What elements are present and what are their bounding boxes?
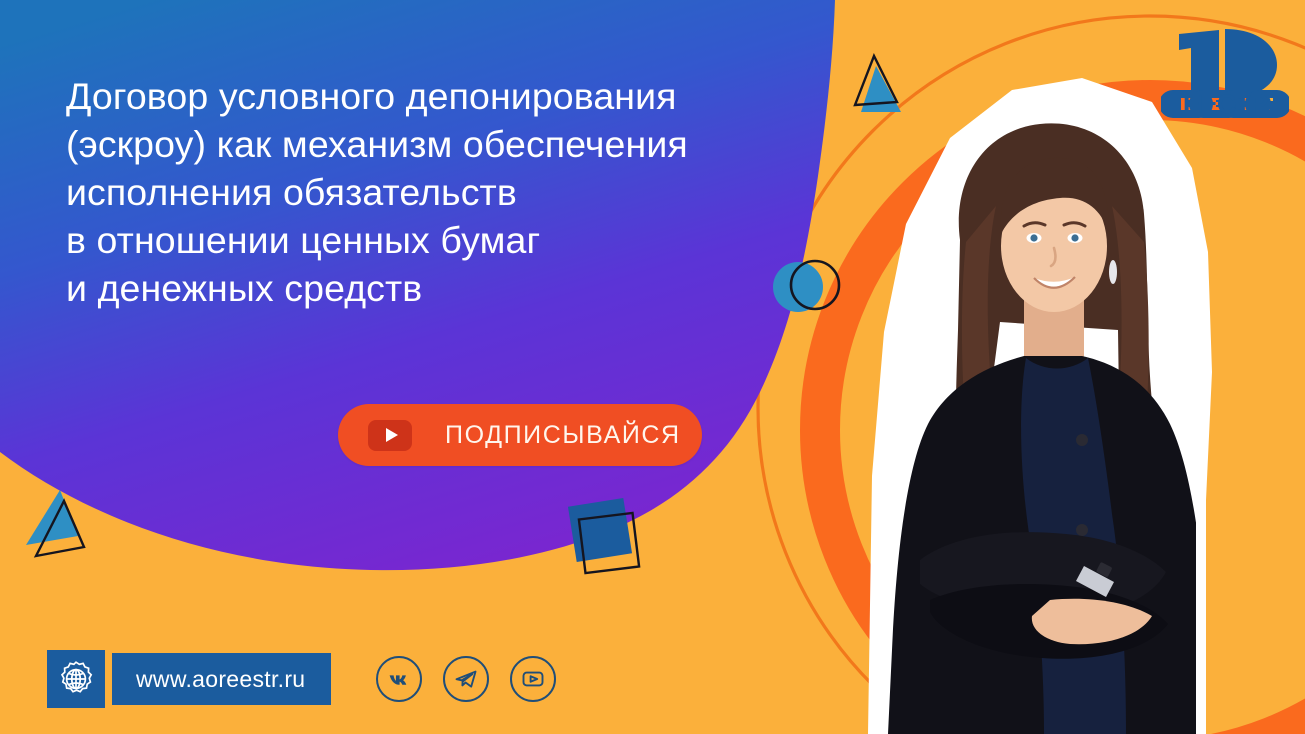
slide-title: Договор условного депонирования (эскроу)…: [66, 72, 846, 312]
triangle-pair-bottom-left: [26, 490, 84, 556]
footer-bar: www.aoreestr.ru: [47, 650, 556, 708]
title-line-5: и денежных средств: [66, 264, 846, 312]
website-url-text: www.aoreestr.ru: [136, 666, 305, 693]
subscribe-button[interactable]: ПОДПИСЫВАЙСЯ: [338, 404, 702, 466]
presentation-slide: Договор условного депонирования (эскроу)…: [0, 0, 1305, 734]
reestr-logo: ЕЕСТР: [1161, 18, 1289, 122]
subscribe-button-label: ПОДПИСЫВАЙСЯ: [445, 421, 681, 450]
website-url-tile[interactable]: www.aoreestr.ru: [112, 653, 331, 705]
triangle-pair-top: [855, 56, 901, 112]
title-line-4: в отношении ценных бумаг: [66, 216, 846, 264]
globe-gear-icon: [56, 659, 96, 699]
title-line-3: исполнения обязательств: [66, 168, 846, 216]
title-line-2: (эскроу) как механизм обеспечения: [66, 120, 846, 168]
title-line-1: Договор условного депонирования: [66, 72, 846, 120]
vk-icon[interactable]: [376, 656, 422, 702]
logo-wordmark-text: ЕЕСТР: [1183, 89, 1268, 119]
youtube-icon[interactable]: [510, 656, 556, 702]
vk-glyph: [385, 665, 413, 693]
telegram-icon[interactable]: [443, 656, 489, 702]
social-links: [376, 656, 556, 702]
youtube-play-icon: [368, 420, 412, 451]
globe-gear-tile[interactable]: [47, 650, 105, 708]
youtube-glyph: [519, 665, 547, 693]
telegram-glyph: [452, 665, 480, 693]
